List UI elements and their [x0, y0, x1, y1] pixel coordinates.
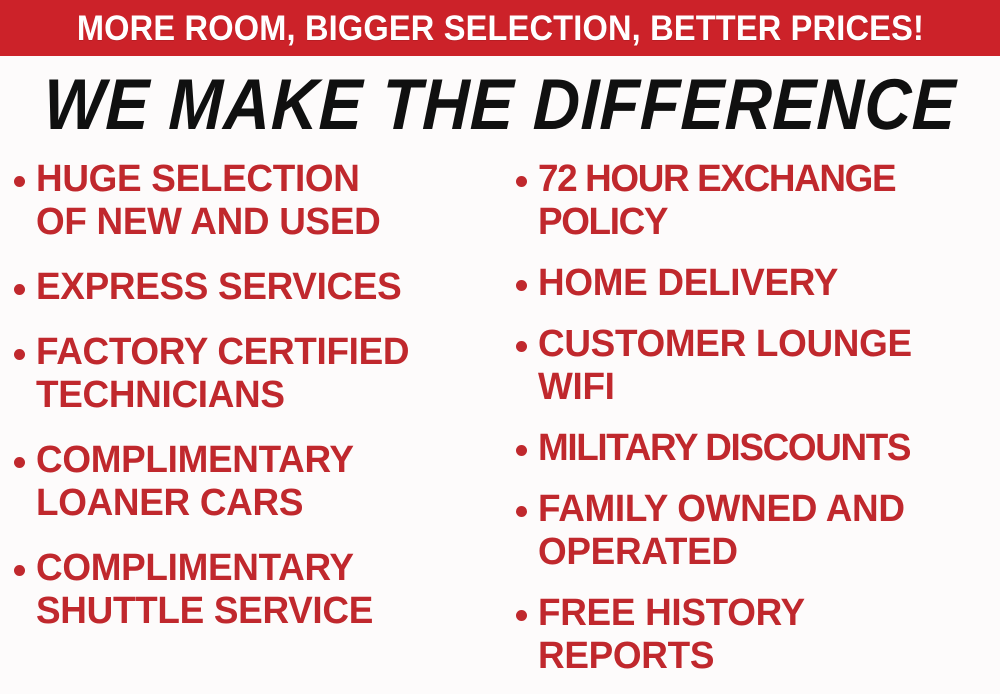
list-item-label: HUGE SELECTION OF NEW AND USED [36, 158, 380, 244]
list-item-label: HOME DELIVERY [538, 262, 838, 305]
list-item: HUGE SELECTION OF NEW AND USED [14, 158, 500, 244]
promo-poster: MORE ROOM, BIGGER SELECTION, BETTER PRIC… [0, 0, 1000, 694]
list-item-label: EXPRESS SERVICES [36, 266, 401, 309]
list-item: FACTORY CERTIFIED TECHNICIANS [14, 331, 500, 417]
list-item-label: COMPLIMENTARY SHUTTLE SERVICE [36, 547, 373, 633]
headline-area: WE MAKE THE DIFFERENCE [0, 68, 1000, 142]
list-item-label: MILITARY DISCOUNTS [538, 427, 910, 470]
bullet-dot-icon [516, 176, 527, 187]
bullet-dot-icon [14, 457, 25, 468]
list-item-label: CUSTOMER LOUNGE WIFI [538, 323, 912, 409]
top-banner: MORE ROOM, BIGGER SELECTION, BETTER PRIC… [0, 0, 1000, 56]
banner-headline-text: MORE ROOM, BIGGER SELECTION, BETTER PRIC… [76, 11, 923, 46]
list-item: COMPLIMENTARY SHUTTLE SERVICE [14, 547, 500, 633]
bullet-dot-icon [14, 565, 25, 576]
benefits-column-left: HUGE SELECTION OF NEW AND USED EXPRESS S… [14, 158, 500, 694]
list-item: FREE HISTORY REPORTS [516, 592, 1000, 678]
page-title: WE MAKE THE DIFFERENCE [43, 69, 958, 141]
bullet-dot-icon [14, 349, 25, 360]
list-item: 72 HOUR EXCHANGE POLICY [516, 158, 1000, 244]
bullet-dot-icon [516, 341, 527, 352]
bullet-dot-icon [516, 445, 527, 456]
bullet-dot-icon [14, 284, 25, 295]
benefits-columns: HUGE SELECTION OF NEW AND USED EXPRESS S… [0, 158, 1000, 694]
list-item: EXPRESS SERVICES [14, 266, 500, 309]
list-item-label: COMPLIMENTARY LOANER CARS [36, 439, 354, 525]
list-item: MILITARY DISCOUNTS [516, 427, 1000, 470]
bullet-dot-icon [516, 610, 527, 621]
list-item-label: FREE HISTORY REPORTS [538, 592, 805, 678]
bullet-dot-icon [516, 506, 527, 517]
list-item-label: FACTORY CERTIFIED TECHNICIANS [36, 331, 409, 417]
bullet-dot-icon [516, 280, 527, 291]
list-item: HOME DELIVERY [516, 262, 1000, 305]
bullet-dot-icon [14, 176, 25, 187]
benefits-column-right: 72 HOUR EXCHANGE POLICY HOME DELIVERY CU… [516, 158, 1000, 694]
list-item-label: 72 HOUR EXCHANGE POLICY [538, 158, 895, 244]
list-item: FAMILY OWNED AND OPERATED [516, 488, 1000, 574]
list-item: CUSTOMER LOUNGE WIFI [516, 323, 1000, 409]
list-item: COMPLIMENTARY LOANER CARS [14, 439, 500, 525]
list-item-label: FAMILY OWNED AND OPERATED [538, 488, 905, 574]
